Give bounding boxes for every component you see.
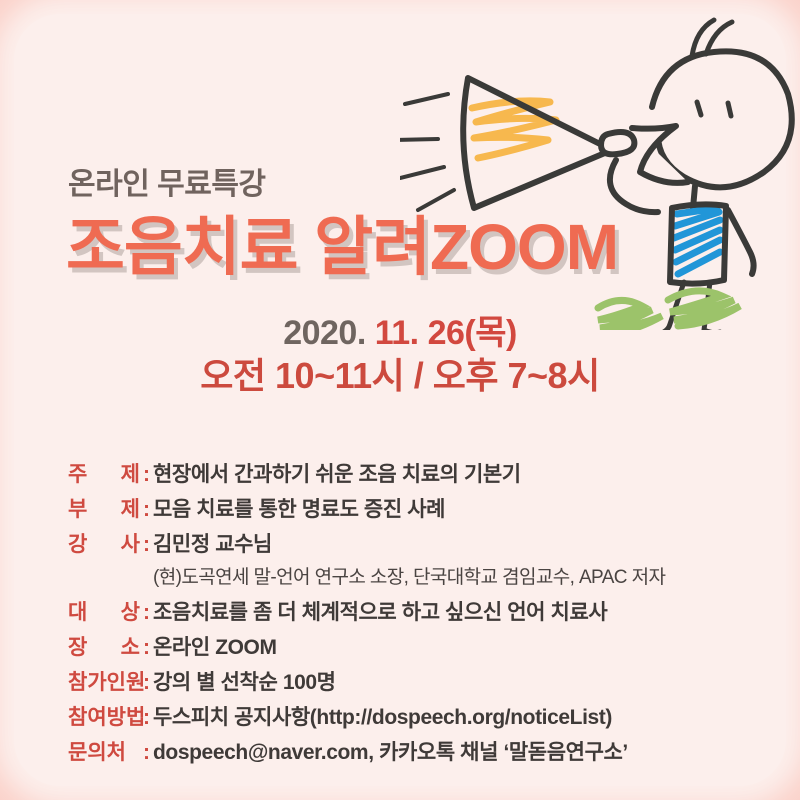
detail-value: dospeech@naver.com, 카카오톡 채널 ‘말돋음연구소’ xyxy=(153,736,628,766)
detail-row: 대 상:조음치료를 좀 더 체계적으로 하고 싶으신 언어 치료사 xyxy=(68,596,768,626)
detail-value: (현)도곡연세 말-언어 연구소 소장, 단국대학교 겸임교수, APAC 저자 xyxy=(153,562,665,589)
detail-value: 현장에서 간과하기 쉬운 조음 치료의 기본기 xyxy=(153,458,521,488)
poster: 온라인 무료특강 조음치료 알려ZOOM 2020. 11. 26(목) 오전 … xyxy=(0,0,800,800)
detail-label: 장 소 xyxy=(68,631,140,661)
details-list: 주 제:현장에서 간과하기 쉬운 조음 치료의 기본기부 제:모음 치료를 통한… xyxy=(68,458,768,771)
detail-colon: : xyxy=(140,636,153,660)
detail-colon: : xyxy=(140,741,153,765)
detail-value: 온라인 ZOOM xyxy=(153,631,277,661)
detail-label: 참가인원 xyxy=(68,666,140,696)
detail-row: 참여방법:두스피치 공지사항(http://dospeech.org/notic… xyxy=(68,701,768,731)
detail-label: 주 제 xyxy=(68,458,140,488)
detail-label: 참여방법 xyxy=(68,701,140,731)
page-title: 조음치료 알려ZOOM xyxy=(66,196,618,288)
detail-row: 부 제:모음 치료를 통한 명료도 증진 사례 xyxy=(68,493,768,523)
detail-row: 문의처:dospeech@naver.com, 카카오톡 채널 ‘말돋음연구소’ xyxy=(68,736,768,766)
detail-label: 강 사 xyxy=(68,528,140,558)
detail-value: 모음 치료를 통한 명료도 증진 사례 xyxy=(153,493,445,523)
detail-value: 강의 별 선착순 100명 xyxy=(153,666,336,696)
detail-colon: : xyxy=(140,498,153,522)
detail-row: 강 사:김민정 교수님 xyxy=(68,528,768,558)
detail-colon: : xyxy=(140,671,153,695)
detail-colon: : xyxy=(140,533,153,557)
detail-row: 참가인원:강의 별 선착순 100명 xyxy=(68,666,768,696)
detail-label: 문의처 xyxy=(68,736,140,766)
detail-value: 두스피치 공지사항(http://dospeech.org/noticeList… xyxy=(153,701,612,731)
detail-colon: : xyxy=(140,601,153,625)
detail-label: 대 상 xyxy=(68,596,140,626)
detail-value: 조음치료를 좀 더 체계적으로 하고 싶으신 언어 치료사 xyxy=(153,596,607,626)
detail-row: 장 소:온라인 ZOOM xyxy=(68,631,768,661)
detail-row: 주 제:현장에서 간과하기 쉬운 조음 치료의 기본기 xyxy=(68,458,768,488)
detail-value: 김민정 교수님 xyxy=(153,528,272,558)
detail-colon: : xyxy=(140,706,153,730)
detail-row: (현)도곡연세 말-언어 연구소 소장, 단국대학교 겸임교수, APAC 저자 xyxy=(68,562,768,589)
time-line: 오전 10~11시 / 오후 7~8시 xyxy=(0,347,800,399)
detail-colon: : xyxy=(140,463,153,487)
detail-label: 부 제 xyxy=(68,493,140,523)
